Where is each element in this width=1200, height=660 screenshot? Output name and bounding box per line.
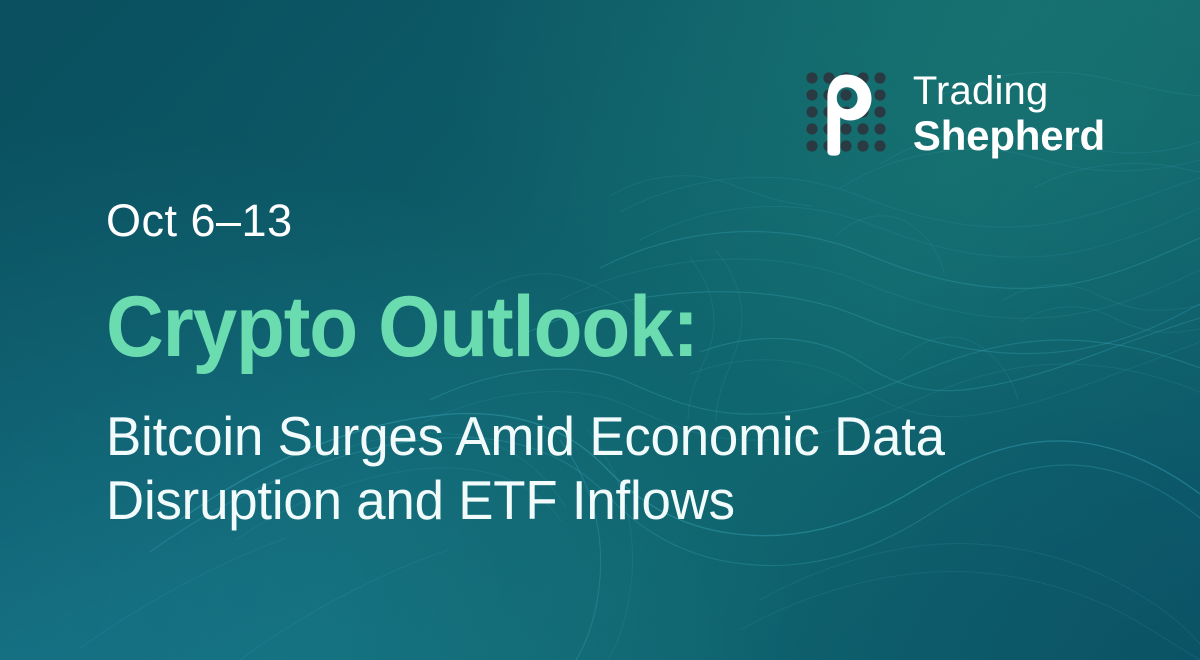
logo-word-trading: Trading <box>913 70 1049 112</box>
crypto-outlook-banner: Trading Shepherd Oct 6–13 Crypto Outlook… <box>0 0 1200 660</box>
logo-wordmark: Trading Shepherd <box>913 70 1105 158</box>
logo-word-shepherd: Shepherd <box>913 114 1105 158</box>
banner-content: Oct 6–13 Crypto Outlook: Bitcoin Surges … <box>106 196 1126 533</box>
subheadline: Bitcoin Surges Amid Economic Data Disrup… <box>106 404 1085 534</box>
headline: Crypto Outlook: <box>106 284 1055 370</box>
date-range-eyebrow: Oct 6–13 <box>106 196 1126 246</box>
subheadline-line-1: Bitcoin Surges Amid Economic Data <box>106 404 1085 469</box>
subheadline-line-2: Disruption and ETF Inflows <box>106 468 1085 533</box>
shepherd-crook-dot-grid-icon <box>805 71 891 157</box>
trading-shepherd-logo[interactable]: Trading Shepherd <box>805 70 1105 158</box>
